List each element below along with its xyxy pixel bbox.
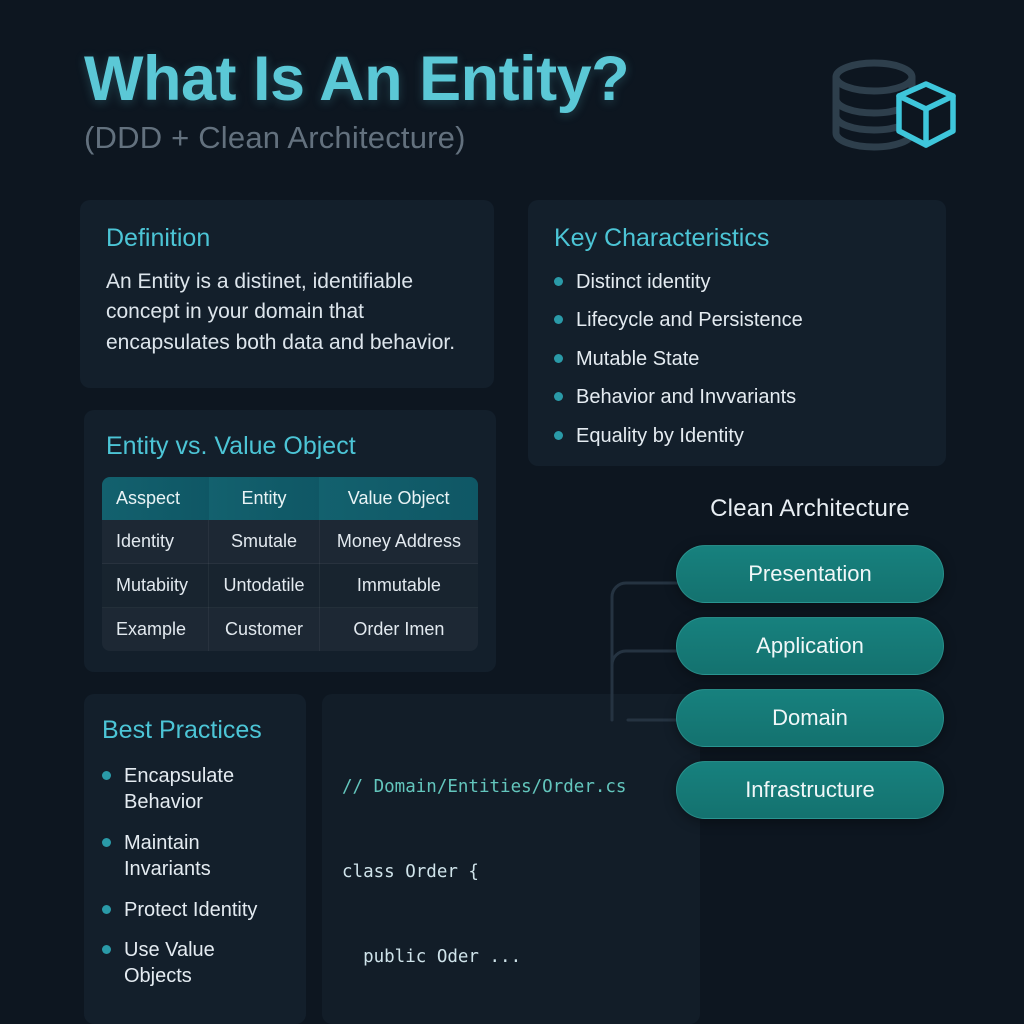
table-cell: Mutabiity xyxy=(102,564,209,608)
list-item: Use Value Objects xyxy=(102,937,288,990)
list-item-label: Maintain Invariants xyxy=(124,830,288,883)
list-item: Lifecycle and Persistence xyxy=(554,307,920,333)
table-cell: Order Imen xyxy=(319,608,478,652)
database-cube-icon xyxy=(822,55,962,165)
bullet-dot-icon xyxy=(102,945,111,954)
list-item: Encapsulate Behavior xyxy=(102,763,288,816)
best-practices-card: Best Practices Encapsulate Behavior Main… xyxy=(84,694,306,1024)
definition-title: Definition xyxy=(106,224,468,253)
table-cell: Immutable xyxy=(319,564,478,608)
list-item-label: Use Value Objects xyxy=(124,937,288,990)
table-cell: Identity xyxy=(102,520,209,564)
code-line: public Oder ... xyxy=(342,943,680,971)
layer-pill-infrastructure[interactable]: Infrastructure xyxy=(676,761,944,819)
table-body: Identity Smutale Money Address Mutabiity… xyxy=(102,520,478,651)
bullet-dot-icon xyxy=(554,315,563,324)
clean-architecture-section: Clean Architecture Presentation Applicat… xyxy=(660,495,960,833)
table-row: Identity Smutale Money Address xyxy=(102,520,478,564)
bullet-dot-icon xyxy=(102,838,111,847)
infographic-page: What Is An Entity? (DDD + Clean Architec… xyxy=(0,0,1024,1024)
page-subtitle: (DDD + Clean Architecture) xyxy=(84,120,629,156)
code-comment-line: // Domain/Entities/Order.cs xyxy=(342,773,680,801)
best-practices-list: Encapsulate Behavior Maintain Invariants… xyxy=(102,763,288,990)
bullet-dot-icon xyxy=(554,277,563,286)
list-item-label: Equality by Identity xyxy=(576,423,744,449)
list-item-label: Behavior and Invvariants xyxy=(576,384,796,410)
bullet-dot-icon xyxy=(554,431,563,440)
table-row: Mutabiity Untodatile Immutable xyxy=(102,564,478,608)
code-block: // Domain/Entities/Order.cs class Order … xyxy=(342,716,680,1024)
key-characteristics-card: Key Characteristics Distinct identity Li… xyxy=(528,200,946,466)
list-item: Distinct identity xyxy=(554,269,920,295)
list-item: Behavior and Invvariants xyxy=(554,384,920,410)
list-item-label: Distinct identity xyxy=(576,269,711,295)
table-column-header: Asspect xyxy=(102,477,209,520)
code-snippet-card: // Domain/Entities/Order.cs class Order … xyxy=(322,694,700,1024)
list-item: Maintain Invariants xyxy=(102,830,288,883)
page-title: What Is An Entity? xyxy=(84,46,629,112)
entity-vs-value-object-title: Entity vs. Value Object xyxy=(106,432,478,461)
best-practices-title: Best Practices xyxy=(102,716,288,745)
key-characteristics-title: Key Characteristics xyxy=(554,224,920,253)
table-cell: Money Address xyxy=(319,520,478,564)
clean-architecture-title: Clean Architecture xyxy=(660,495,960,523)
list-item-label: Lifecycle and Persistence xyxy=(576,307,803,333)
table-cell: Untodatile xyxy=(209,564,320,608)
bullet-dot-icon xyxy=(554,354,563,363)
list-item-label: Encapsulate Behavior xyxy=(124,763,288,816)
table-column-header: Entity xyxy=(209,477,320,520)
code-line: class Order { xyxy=(342,858,680,886)
table-cell: Example xyxy=(102,608,209,652)
list-item: Mutable State xyxy=(554,346,920,372)
list-item: Equality by Identity xyxy=(554,423,920,449)
definition-card: Definition An Entity is a distinet, iden… xyxy=(80,200,494,388)
list-item-label: Mutable State xyxy=(576,346,699,372)
layer-pill-presentation[interactable]: Presentation xyxy=(676,545,944,603)
table-column-header: Value Object xyxy=(319,477,478,520)
layer-pill-domain[interactable]: Domain xyxy=(676,689,944,747)
table-header-row: Asspect Entity Value Object xyxy=(102,477,478,520)
table-head: Asspect Entity Value Object xyxy=(102,477,478,520)
table-cell: Customer xyxy=(209,608,320,652)
entity-vs-value-object-card: Entity vs. Value Object Asspect Entity V… xyxy=(84,410,496,672)
key-characteristics-list: Distinct identity Lifecycle and Persiste… xyxy=(554,269,920,449)
bullet-dot-icon xyxy=(102,905,111,914)
header: What Is An Entity? (DDD + Clean Architec… xyxy=(84,46,629,156)
table-cell: Smutale xyxy=(209,520,320,564)
definition-text: An Entity is a distinet, identifiable co… xyxy=(106,267,468,358)
comparison-table: Asspect Entity Value Object Identity Smu… xyxy=(102,477,478,651)
list-item-label: Protect Identity xyxy=(124,897,257,923)
bullet-dot-icon xyxy=(554,392,563,401)
table-row: Example Customer Order Imen xyxy=(102,608,478,652)
list-item: Protect Identity xyxy=(102,897,288,923)
bullet-dot-icon xyxy=(102,771,111,780)
layer-pill-application[interactable]: Application xyxy=(676,617,944,675)
